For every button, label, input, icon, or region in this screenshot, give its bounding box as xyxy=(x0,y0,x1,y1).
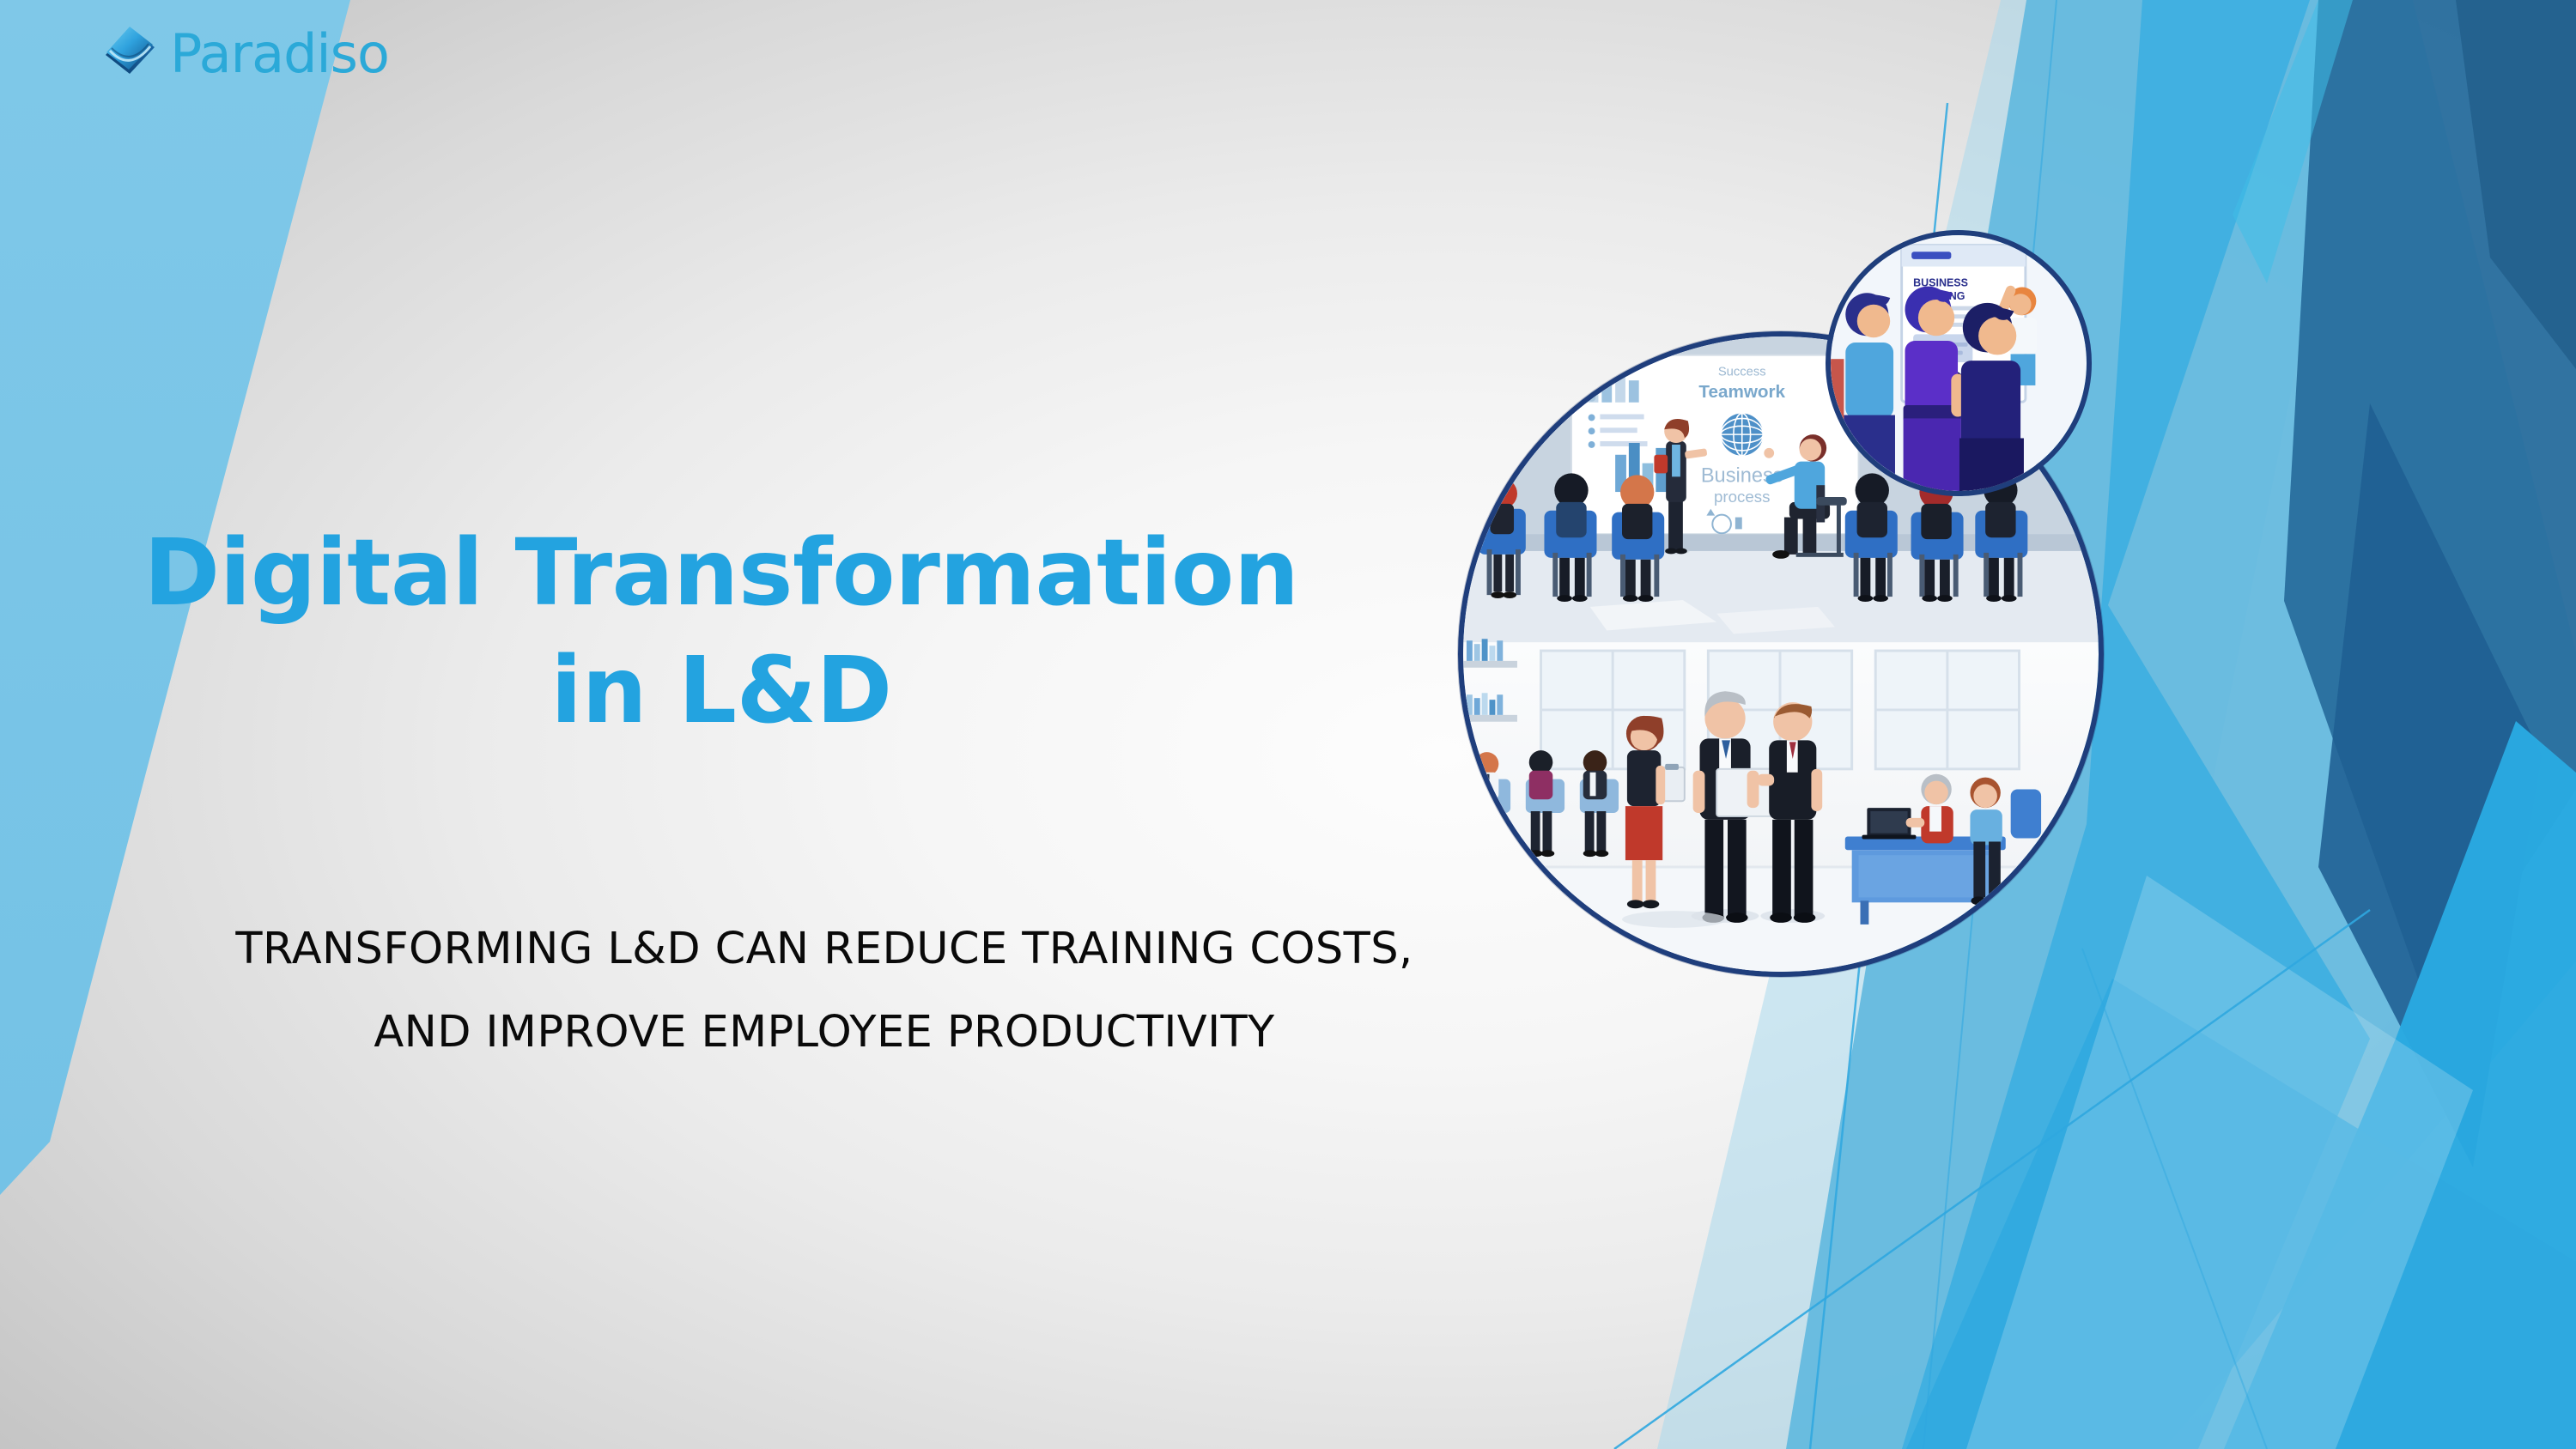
inset-viewers xyxy=(1844,287,2024,491)
presentation-slide: Paradiso Digital Transformation in L&D T… xyxy=(0,0,2576,1449)
title-line-1: Digital Transformation xyxy=(143,520,1298,627)
business-training-board-circle: BUSINESS TRAINING xyxy=(1826,230,2092,496)
screen-word-process: process xyxy=(1714,488,1770,506)
screen-word-success: Success xyxy=(1718,365,1766,379)
screen-word-teamwork: Teamwork xyxy=(1698,382,1785,402)
subtitle-line-2: AND IMPROVE EMPLOYEE PRODUCTIVITY xyxy=(103,991,1546,1075)
brand-name: Paradiso xyxy=(170,27,389,81)
page-subtitle: TRANSFORMING L&D CAN REDUCE TRAINING COS… xyxy=(103,908,1546,1075)
page-title: Digital Transformation in L&D xyxy=(129,515,1314,750)
board-line-1: BUSINESS xyxy=(1913,277,1968,289)
title-line-2: in L&D xyxy=(129,633,1314,750)
paradiso-diamond-book-icon xyxy=(101,24,158,81)
subtitle-line-1: TRANSFORMING L&D CAN REDUCE TRAINING COS… xyxy=(235,924,1413,974)
brand-logo[interactable]: Paradiso xyxy=(101,24,389,81)
globe-icon xyxy=(1721,414,1763,456)
